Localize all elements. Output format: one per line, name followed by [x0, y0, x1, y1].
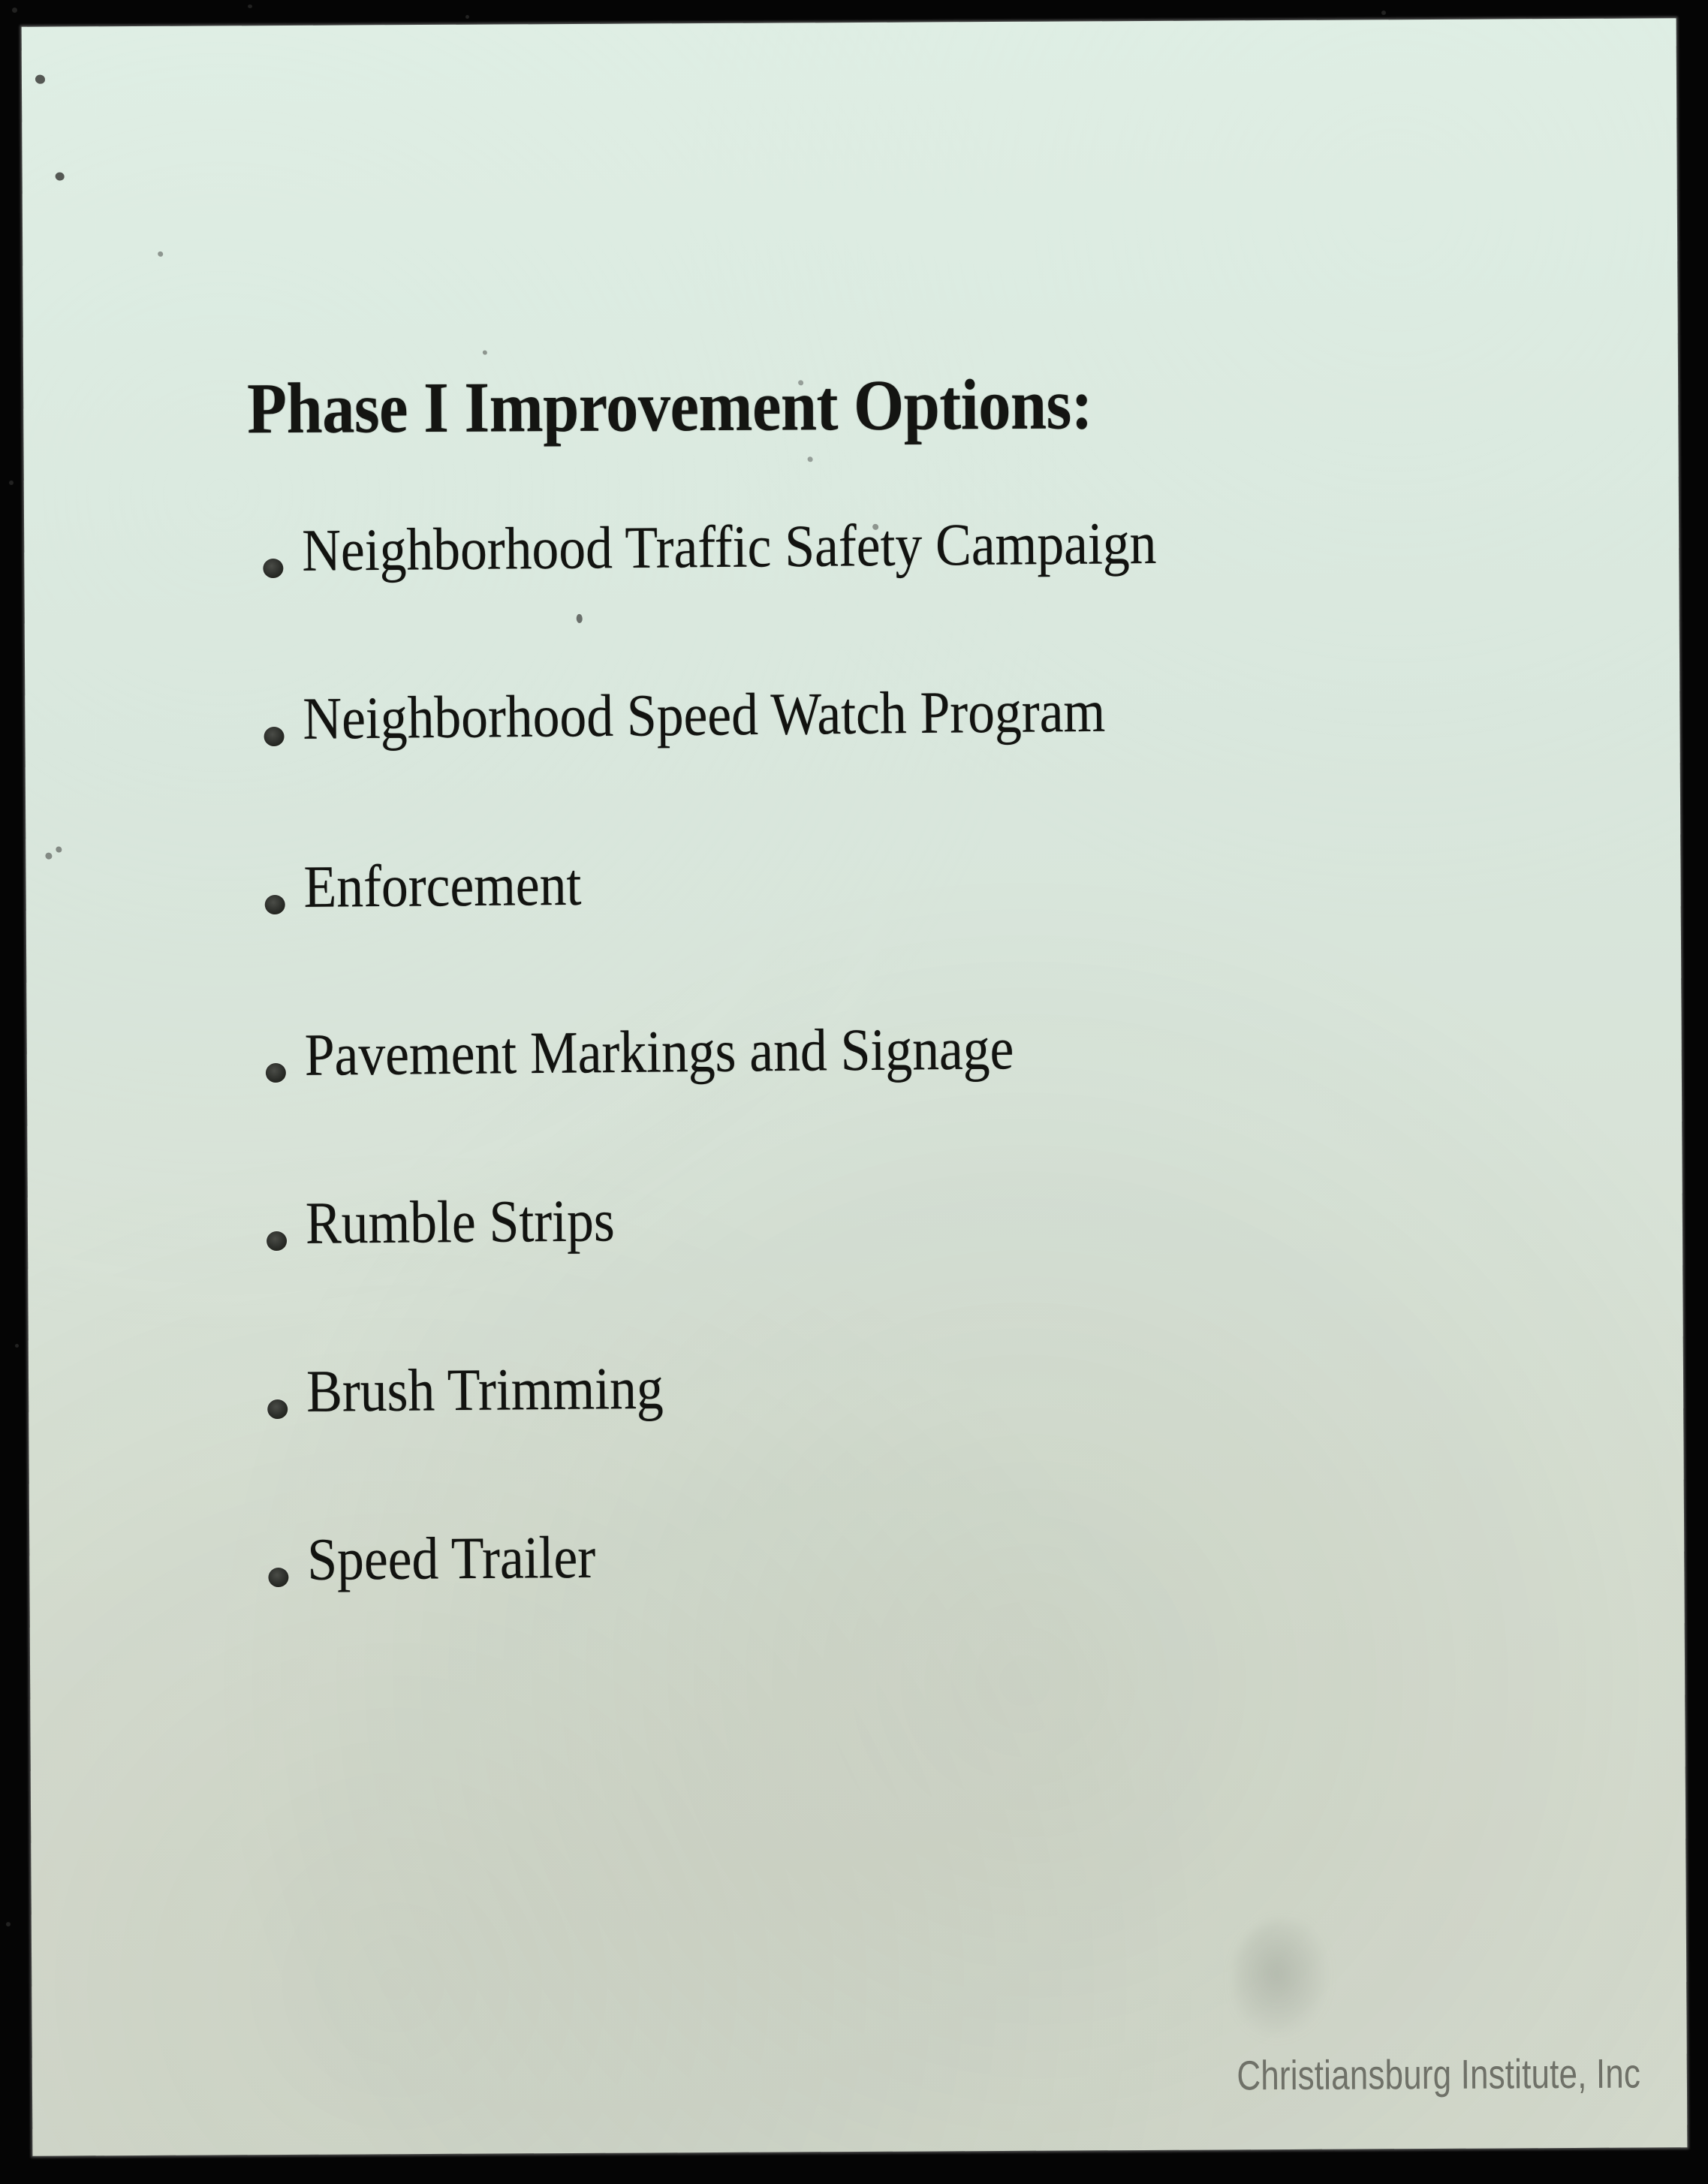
list-item-label: Pavement Markings and Signage [304, 1019, 1014, 1086]
list-item-label: Rumble Strips [306, 1191, 615, 1255]
bed-dust-speck [465, 15, 469, 19]
list-item: Enforcement [249, 851, 1601, 1026]
page-content: Phase I Improvement Options: Neighborhoo… [22, 18, 1688, 2156]
list-item-label: Enforcement [303, 855, 581, 919]
list-item: Neighborhood Traffic Safety Campaign [248, 514, 1600, 689]
bullet-icon [267, 1231, 287, 1251]
list-item-label: Brush Trimming [306, 1359, 664, 1423]
list-item-label: Neighborhood Traffic Safety Campaign [302, 514, 1157, 583]
bullet-icon [265, 895, 285, 914]
list-item: Speed Trailer [253, 1523, 1605, 1698]
bullet-icon [266, 1063, 286, 1083]
bed-dust-speck [9, 480, 14, 485]
list-item: Pavement Markings and Signage [251, 1019, 1603, 1194]
bullet-icon [268, 1568, 288, 1587]
list-item: Neighborhood Speed Watch Program [249, 682, 1601, 857]
watermark-attribution: Christiansburg Institute, Inc [1237, 2050, 1640, 2100]
bed-dust-speck [15, 1344, 19, 1348]
improvement-options-list: Neighborhood Traffic Safety Campaign Nei… [248, 514, 1605, 1698]
bed-dust-speck [1381, 11, 1386, 15]
bed-dust-speck [248, 5, 252, 8]
list-item: Brush Trimming [252, 1355, 1604, 1530]
bed-dust-speck [6, 1922, 11, 1926]
list-item-label: Neighborhood Speed Watch Program [303, 682, 1105, 751]
list-item-label: Speed Trailer [307, 1528, 595, 1592]
list-item: Rumble Strips [252, 1187, 1604, 1362]
bullet-icon [263, 559, 283, 578]
bed-dust-speck [12, 8, 17, 13]
paper-sheet: Phase I Improvement Options: Neighborhoo… [22, 18, 1688, 2156]
bullet-icon [267, 1399, 288, 1419]
page-title: Phase I Improvement Options: [247, 369, 1092, 445]
scanner-bed: Phase I Improvement Options: Neighborhoo… [0, 0, 1708, 2184]
bullet-icon [264, 727, 284, 746]
